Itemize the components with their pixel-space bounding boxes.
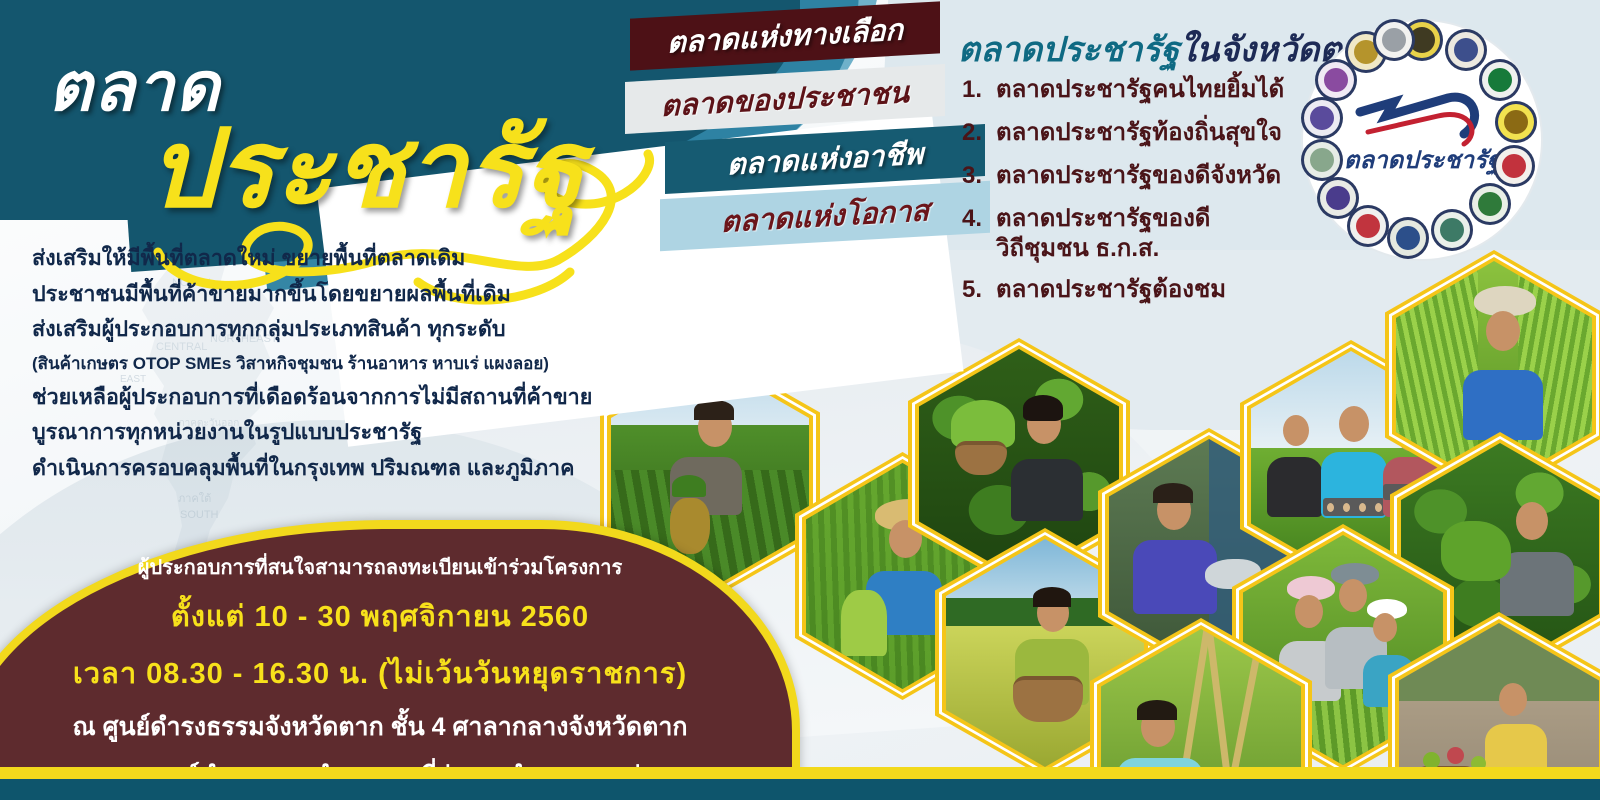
footer-yellow-bar bbox=[0, 767, 1600, 779]
strip-label-1: ตลาดแห่งทางเลือก bbox=[667, 6, 903, 65]
list-item-number: 1. bbox=[962, 78, 988, 102]
registration-lead: ผู้ประกอบการที่สนใจสามารถลงทะเบียนเข้าร่… bbox=[0, 551, 792, 583]
list-item: 5. ตลาดประชารัฐต้องชม bbox=[962, 278, 1342, 302]
strip-label-3: ตลาดแห่งอาชีพ bbox=[727, 131, 923, 188]
list-item: 2. ตลาดประชารัฐท้องถิ่นสุขใจ bbox=[962, 121, 1342, 145]
body-line-small: (สินค้าเกษตร OTOP SMEs วิสาหกิจชุมชน ร้า… bbox=[32, 355, 632, 372]
list-item-label2: วิถีชุมชน ธ.ก.ส. bbox=[996, 237, 1159, 261]
list-item-label: ตลาดประชารัฐท้องถิ่นสุขใจ bbox=[996, 121, 1282, 145]
main-logo: ตลาด ประชารัฐ bbox=[38, 22, 678, 252]
poster-canvas: NORTH NORTHEAST CENTRAL EAST ภาคตะวันออก… bbox=[0, 0, 1600, 800]
ministry-seal-logo: ตลาดประชารัฐ bbox=[1298, 16, 1546, 264]
body-line: บูรณาการทุกหน่วยงานในรูปแบบประชารัฐ bbox=[32, 422, 632, 444]
strip-label-4: ตลาดแห่งโอกาส bbox=[721, 187, 929, 245]
strip-label-2: ตลาดของประชาชน bbox=[661, 69, 909, 129]
list-item-label: ตลาดประชารัฐของดี bbox=[996, 207, 1210, 231]
registration-venue-1: ณ ศูนย์ดำรงธรรมจังหวัดตาก ชั้น 4 ศาลากลา… bbox=[0, 707, 792, 747]
list-item-continuation: วิถีชุมชน ธ.ก.ส. bbox=[996, 237, 1342, 261]
market-types-list: 1. ตลาดประชารัฐคนไทยยิ้มได้ 2. ตลาดประชา… bbox=[962, 78, 1342, 321]
list-item-label: ตลาดประชารัฐของดีจังหวัด bbox=[996, 164, 1281, 188]
body-line: ประชาชนมีพื้นที่ค้าขายมากขึ้นโดยขยายผลพื… bbox=[32, 284, 632, 306]
registration-panel: ผู้ประกอบการที่สนใจสามารถลงทะเบียนเข้าร่… bbox=[0, 520, 800, 800]
map-label-south: SOUTH bbox=[180, 509, 219, 521]
right-heading-part1: ตลาดประชารัฐ bbox=[958, 32, 1179, 69]
footer-teal-bar bbox=[0, 779, 1600, 800]
body-line: ดำเนินการครอบคลุมพื้นที่ในกรุงเทพ ปริมณฑ… bbox=[32, 458, 632, 480]
list-item-number: 2. bbox=[962, 121, 988, 145]
list-item-label: ตลาดประชารัฐคนไทยยิ้มได้ bbox=[996, 78, 1284, 102]
logo-word-pracharat: ประชารัฐ bbox=[148, 82, 584, 254]
body-copy: ส่งเสริมให้มีพื้นที่ตลาดใหม่ ขยายพื้นที่… bbox=[32, 248, 632, 493]
list-item: 4. ตลาดประชารัฐของดี bbox=[962, 207, 1342, 231]
map-label-south-th: ภาคใต้ bbox=[178, 492, 211, 505]
registration-dates: ตั้งแต่ 10 - 30 พฤศจิกายน 2560 bbox=[0, 593, 792, 639]
seal-center-text: ตลาดประชารัฐ bbox=[1344, 148, 1503, 176]
body-line: ส่งเสริมผู้ประกอบการทุกกลุ่มประเภทสินค้า… bbox=[32, 319, 632, 341]
body-line: ส่งเสริมให้มีพื้นที่ตลาดใหม่ ขยายพื้นที่… bbox=[32, 248, 632, 270]
registration-panel-inner: ผู้ประกอบการที่สนใจสามารถลงทะเบียนเข้าร่… bbox=[0, 529, 792, 800]
list-item-number: 4. bbox=[962, 207, 988, 231]
registration-time: เวลา 08.30 - 16.30 น. (ไม่เว้นวันหยุดราช… bbox=[0, 650, 792, 696]
body-line: ช่วยเหลือผู้ประกอบการที่เดือดร้อนจากการไ… bbox=[32, 387, 632, 409]
list-item-number: 3. bbox=[962, 164, 988, 188]
list-item: 1. ตลาดประชารัฐคนไทยยิ้มได้ bbox=[962, 78, 1342, 102]
list-item-number: 5. bbox=[962, 278, 988, 302]
list-item: 3. ตลาดประชารัฐของดีจังหวัด bbox=[962, 164, 1342, 188]
list-item-label: ตลาดประชารัฐต้องชม bbox=[996, 278, 1226, 302]
